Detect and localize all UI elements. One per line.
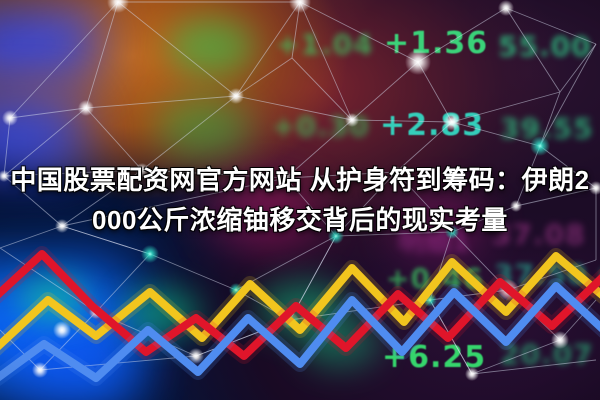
headline-line-1: 中国股票配资网官方网站 从护身符到筹码：伊朗2 bbox=[6, 160, 594, 200]
page-title: 中国股票配资网官方网站 从护身符到筹码：伊朗2 000公斤浓缩铀移交背后的现实考… bbox=[0, 160, 600, 240]
promo-banner: +1.36+2.83+6.25+1.04+0.3055.00 u39.55 u+… bbox=[0, 0, 600, 400]
headline-line-2: 000公斤浓缩铀移交背后的现实考量 bbox=[6, 200, 594, 240]
